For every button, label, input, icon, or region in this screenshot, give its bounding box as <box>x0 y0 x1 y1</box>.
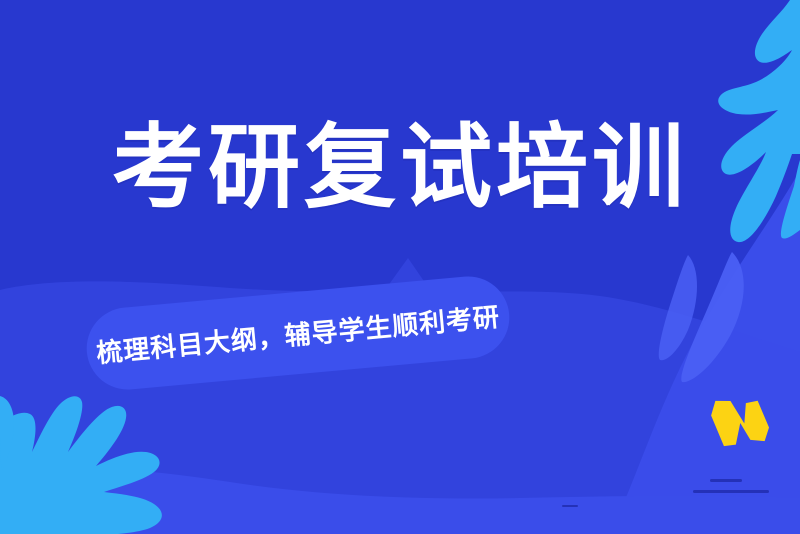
promotional-banner: 考研复试培训 梳理科目大纲，辅导学生顺利考研 <box>0 0 800 534</box>
subtitle-text: 梳理科目大纲，辅导学生顺利考研 <box>83 273 513 393</box>
leaf-stroke-1 <box>659 255 697 360</box>
background-base <box>0 0 800 534</box>
decorative-dash-long <box>693 490 769 493</box>
background-decoration-layer <box>0 0 800 534</box>
leaf-stroke-2 <box>681 252 743 382</box>
wave-bottom-band <box>0 467 800 534</box>
wave-right-sweep <box>610 0 800 534</box>
splash-bottom-left-icon <box>0 396 162 534</box>
lightning-bolt-icon <box>709 395 770 447</box>
decorative-dash-tiny <box>562 505 578 507</box>
page-title: 考研复试培训 <box>0 118 800 217</box>
decorative-dash-short <box>710 479 742 482</box>
